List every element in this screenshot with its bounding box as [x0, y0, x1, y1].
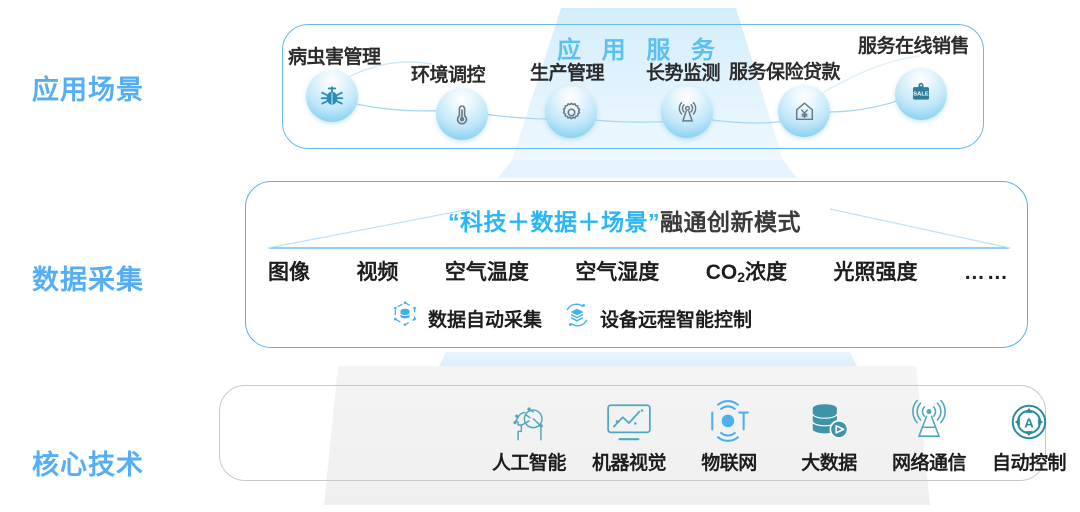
- data-item-light: 光照强度: [833, 256, 917, 286]
- tech-label-network: 网络通信: [892, 448, 966, 475]
- node-growth-monitoring[interactable]: [661, 86, 713, 138]
- tech-label-machine-vision: 机器视觉: [592, 448, 666, 475]
- antenna-icon: [906, 398, 952, 444]
- data-item-co2: CO2浓度: [706, 256, 787, 286]
- data-item-image: 图像: [268, 256, 310, 286]
- iot-icon: [706, 398, 752, 444]
- tech-item-machine-vision[interactable]: 机器视觉: [590, 398, 668, 475]
- funnel-blue-lower: [438, 352, 858, 368]
- big-data-icon: [807, 398, 851, 444]
- node-caption-production-management: 生产管理: [530, 58, 604, 85]
- node-production-management[interactable]: [545, 86, 597, 138]
- feature-remote-control: 设备远程智能控制: [562, 300, 752, 336]
- node-caption-pest-management: 病虫害管理: [288, 42, 381, 69]
- row-label-data-collection: 数据采集: [32, 258, 144, 297]
- infographic-canvas: 应用场景 应 用 服 务 病虫害管理 环境调控: [0, 0, 1080, 512]
- layers-cycle-icon: [562, 300, 592, 336]
- data-collection-features: 数据自动采集 设备远程智能控制: [390, 300, 752, 336]
- sale-tag-icon: SALE: [908, 81, 934, 107]
- node-caption-growth-monitoring: 长势监测: [646, 58, 720, 85]
- node-environment-control[interactable]: [436, 88, 488, 140]
- node-online-sales[interactable]: SALE: [895, 68, 947, 120]
- signal-tower-icon: [675, 100, 700, 125]
- house-yuan-icon: [792, 99, 817, 124]
- tech-item-iot[interactable]: 物联网: [690, 398, 768, 475]
- node-caption-online-sales: 服务在线销售: [858, 31, 969, 58]
- bug-icon: [319, 83, 345, 109]
- tech-item-auto-control[interactable]: A 自动控制: [990, 398, 1068, 475]
- data-item-ellipsis: ……: [964, 261, 1010, 285]
- node-insurance-loan[interactable]: [778, 85, 830, 137]
- row-label-core-technology: 核心技术: [32, 443, 144, 482]
- co2-prefix: CO: [706, 261, 738, 284]
- svg-text:A: A: [1024, 416, 1034, 431]
- data-item-air-humidity: 空气湿度: [575, 256, 659, 286]
- tech-label-auto-control: 自动控制: [992, 448, 1066, 475]
- row-label-application: 应用场景: [32, 68, 144, 107]
- feature-label-auto-collection: 数据自动采集: [428, 305, 542, 332]
- headline-accent: “科技＋数据＋场景”: [448, 209, 660, 235]
- svg-text:SALE: SALE: [913, 92, 929, 98]
- core-technology-items: 人工智能 机器视觉: [490, 398, 1080, 475]
- tech-label-iot: 物联网: [701, 448, 757, 475]
- tech-label-ai: 人工智能: [492, 448, 566, 475]
- node-caption-insurance-loan: 服务保险贷款: [729, 57, 840, 84]
- tech-item-network[interactable]: 网络通信: [890, 398, 968, 475]
- tech-item-big-data[interactable]: 大数据: [790, 398, 868, 475]
- ai-head-icon: [508, 398, 550, 444]
- monitor-chart-icon: [605, 398, 653, 444]
- auto-control-icon: A: [1007, 398, 1051, 444]
- thermometer-icon: [450, 102, 474, 126]
- tech-item-ai[interactable]: 人工智能: [490, 398, 568, 475]
- tech-label-big-data: 大数据: [801, 448, 857, 475]
- gear-icon: [559, 100, 584, 125]
- data-item-video: 视频: [356, 256, 398, 286]
- node-caption-environment-control: 环境调控: [411, 60, 485, 87]
- feature-label-remote-control: 设备远程智能控制: [600, 305, 752, 332]
- co2-suffix: 浓度: [745, 261, 787, 284]
- funnel-blue-mid: [498, 160, 797, 178]
- database-hex-icon: [390, 300, 420, 336]
- data-item-air-temp: 空气温度: [445, 256, 529, 286]
- feature-auto-collection: 数据自动采集: [390, 300, 542, 336]
- data-collection-items: 图像 视频 空气温度 空气湿度 CO2浓度 光照强度 ……: [268, 256, 1010, 286]
- node-pest-management[interactable]: [306, 70, 358, 122]
- data-collection-headline: “科技＋数据＋场景”融通创新模式: [448, 203, 801, 237]
- data-divider-lines: [268, 247, 1010, 249]
- co2-subscript: 2: [737, 269, 745, 285]
- headline-rest: 融通创新模式: [660, 209, 801, 235]
